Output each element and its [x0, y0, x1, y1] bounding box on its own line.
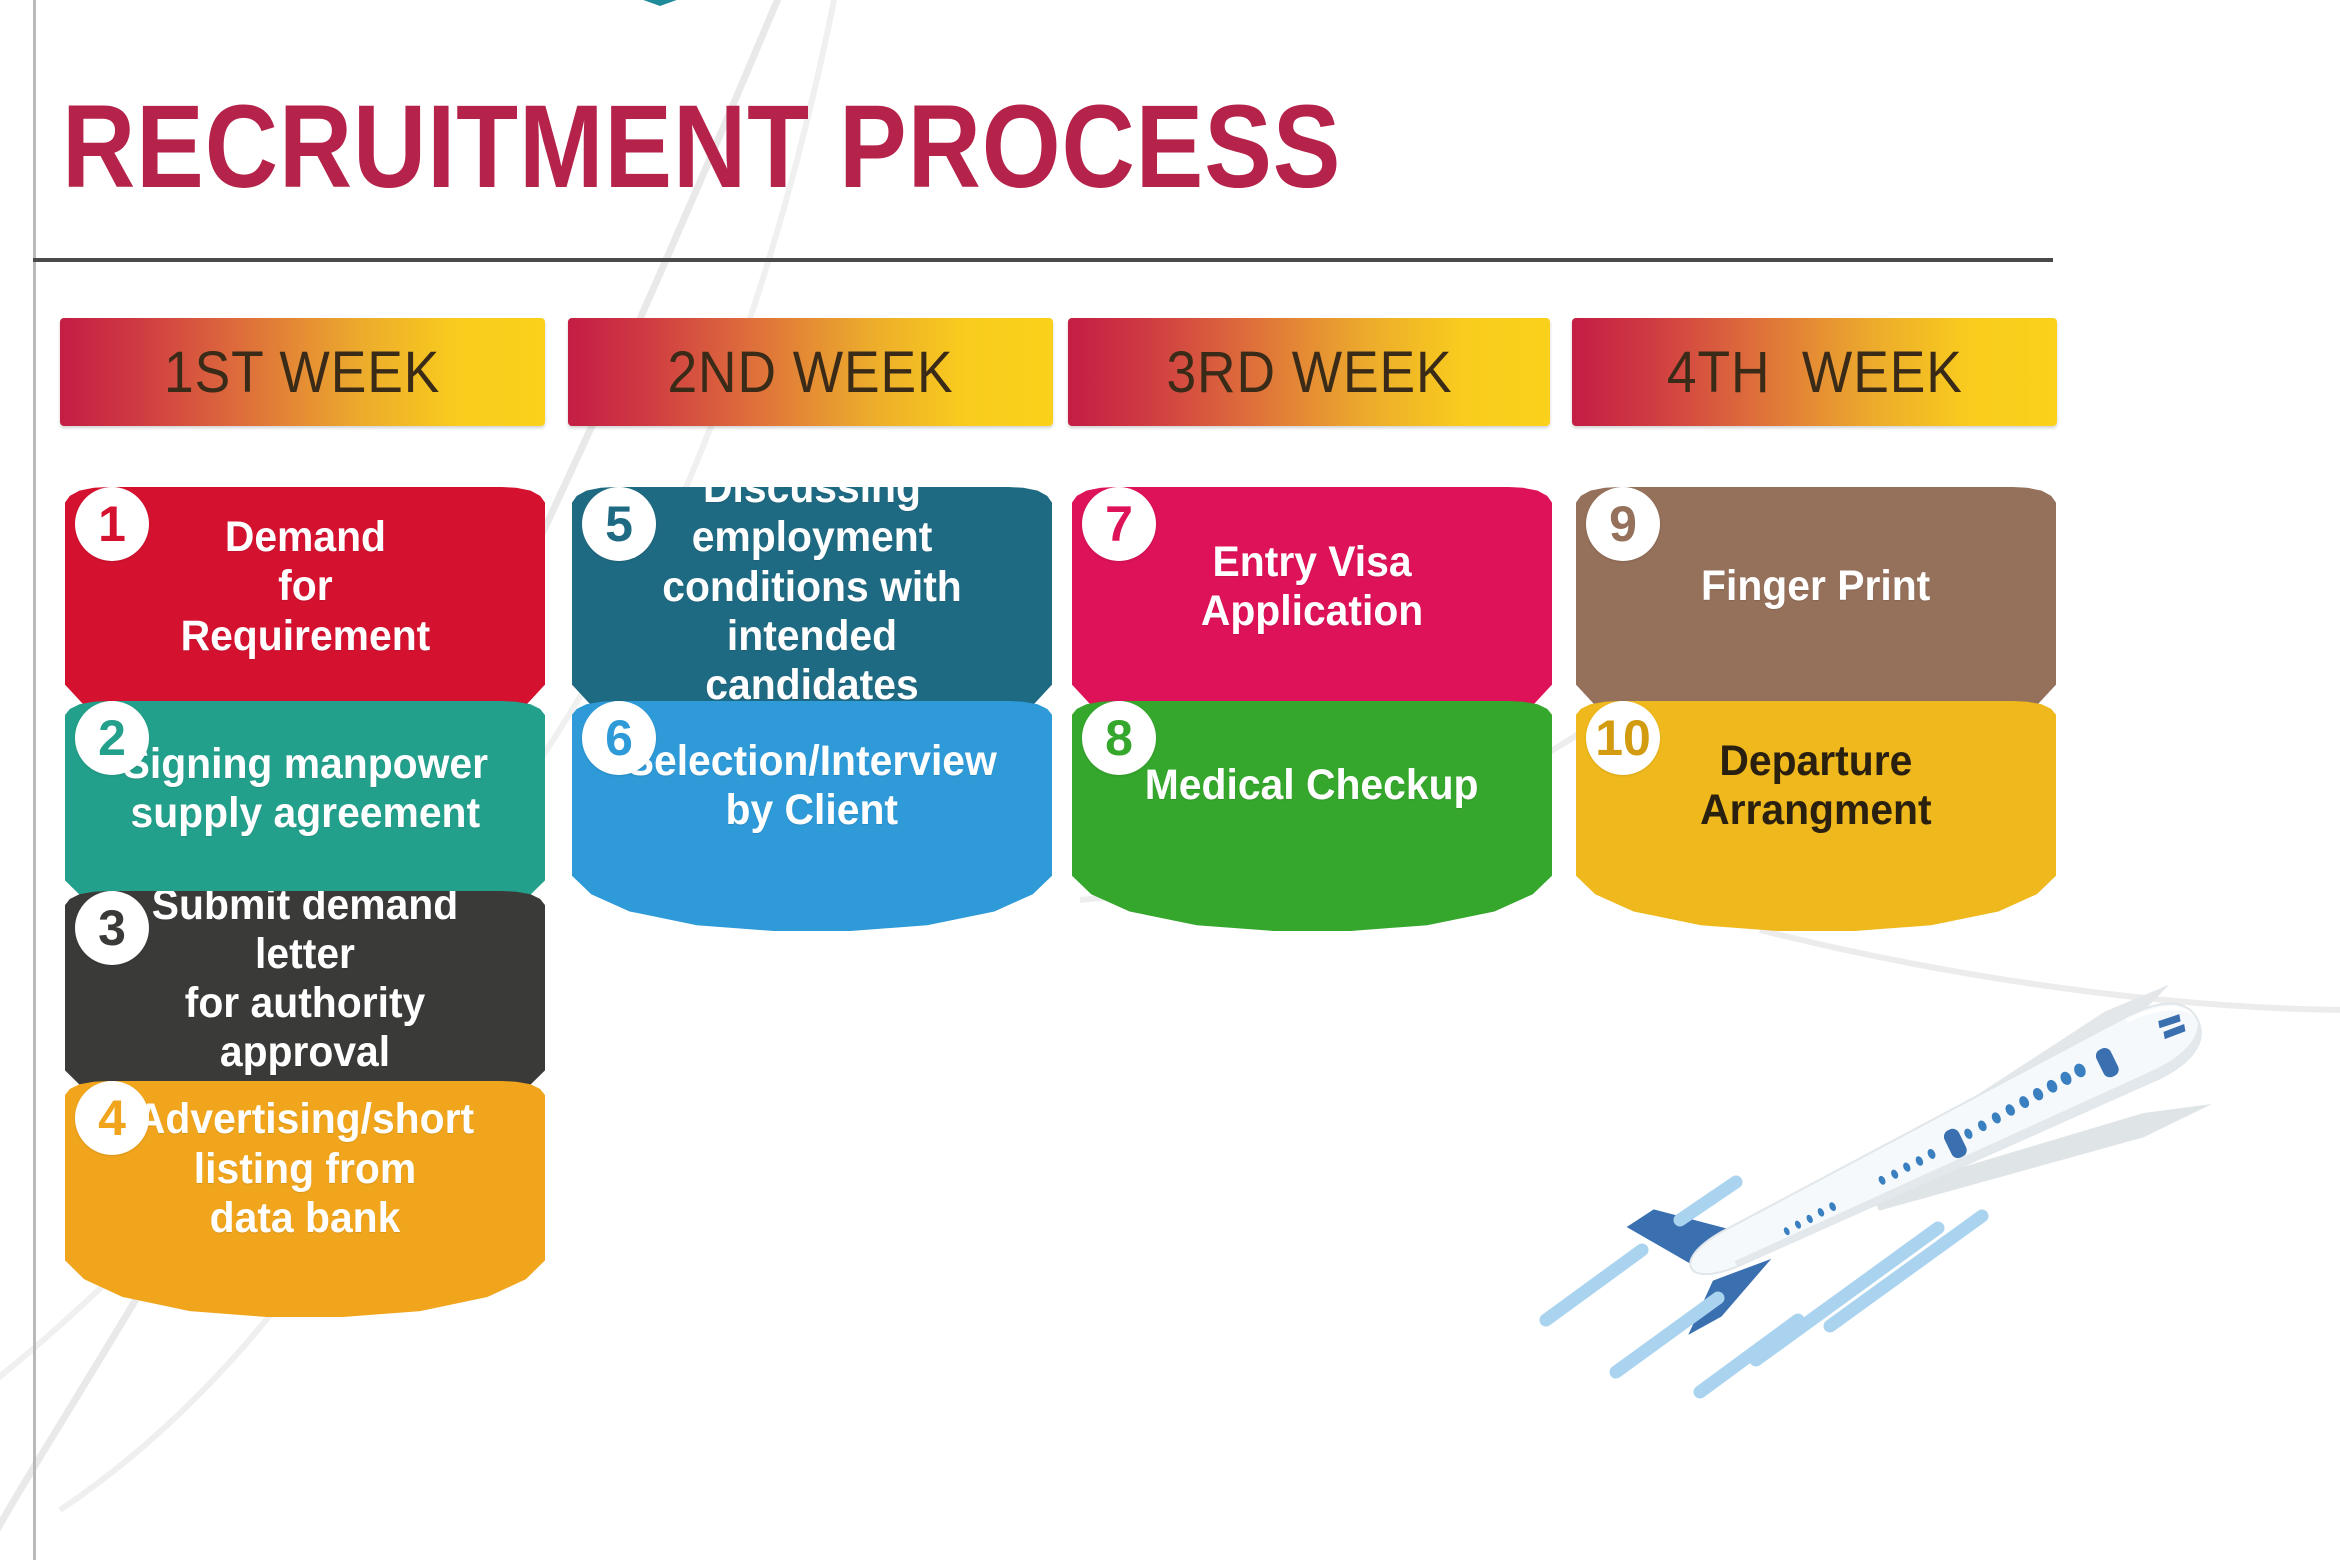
week-header-label: 4TH WEEK: [1667, 339, 1963, 406]
top-chevron-fragment: [560, 0, 760, 20]
week-column-1: Demand for Requirement 1 Signing manpowe…: [65, 487, 545, 1271]
step-number-badge-10: 10: [1586, 701, 1660, 775]
step-number: 1: [98, 499, 126, 549]
step-label: Submit demand letter for authority appro…: [106, 881, 505, 1077]
week-header-3rd-week: 3RD WEEK: [1068, 318, 1550, 426]
step-number-badge-4: 4: [75, 1081, 149, 1155]
week-header-2nd-week: 2ND WEEK: [568, 318, 1053, 426]
week-header-label: 3RD WEEK: [1166, 339, 1452, 406]
step-number-badge-1: 1: [75, 487, 149, 561]
step-number: 4: [98, 1093, 126, 1143]
week-column-2: Discussing employment conditions with in…: [572, 487, 1052, 885]
step-number-badge-2: 2: [75, 701, 149, 775]
week-header-1st-week: 1ST WEEK: [60, 318, 545, 426]
step-number-badge-8: 8: [1082, 701, 1156, 775]
step-label: Departure Arrangment: [1700, 737, 1932, 835]
step-number: 2: [98, 713, 126, 763]
step-number: 6: [605, 713, 633, 763]
step-label: Selection/Interview by Client: [627, 737, 997, 835]
step-label: Advertising/short listing from data bank: [136, 1095, 474, 1242]
step-number: 3: [98, 903, 126, 953]
step-label: Discussing employment conditions with in…: [613, 464, 1012, 709]
airplane-icon: [1530, 920, 2290, 1400]
step-number-badge-9: 9: [1586, 487, 1660, 561]
step-label: Entry Visa Application: [1201, 538, 1423, 636]
step-label: Finger Print: [1701, 562, 1930, 611]
infographic-canvas: RECRUITMENT PROCESS 1ST WEEK 2ND WEEK 3R…: [0, 0, 2340, 1560]
week-column-4: Finger Print 9 Departure Arrangment 10: [1576, 487, 2056, 885]
left-vertical-rule: [33, 0, 36, 1560]
step-number-badge-3: 3: [75, 891, 149, 965]
week-header-4th-week: 4TH WEEK: [1572, 318, 2057, 426]
step-number-badge-6: 6: [582, 701, 656, 775]
step-number: 8: [1105, 713, 1133, 763]
page-title: RECRUITMENT PROCESS: [62, 88, 1341, 206]
step-number: 9: [1609, 499, 1637, 549]
step-number-badge-7: 7: [1082, 487, 1156, 561]
title-underline-rule: [33, 258, 2053, 262]
step-number: 7: [1105, 499, 1133, 549]
step-label: Medical Checkup: [1145, 761, 1479, 810]
step-label: Demand for Requirement: [180, 513, 430, 660]
step-label: Signing manpower supply agreement: [122, 740, 487, 838]
step-number: 5: [605, 499, 633, 549]
airplane-illustration: [1530, 920, 2290, 1400]
week-column-3: Entry Visa Application 7 Medical Checkup…: [1072, 487, 1552, 885]
step-number: 10: [1595, 713, 1651, 763]
week-header-label: 1ST WEEK: [164, 339, 440, 406]
step-number-badge-5: 5: [582, 487, 656, 561]
week-header-label: 2ND WEEK: [667, 339, 953, 406]
